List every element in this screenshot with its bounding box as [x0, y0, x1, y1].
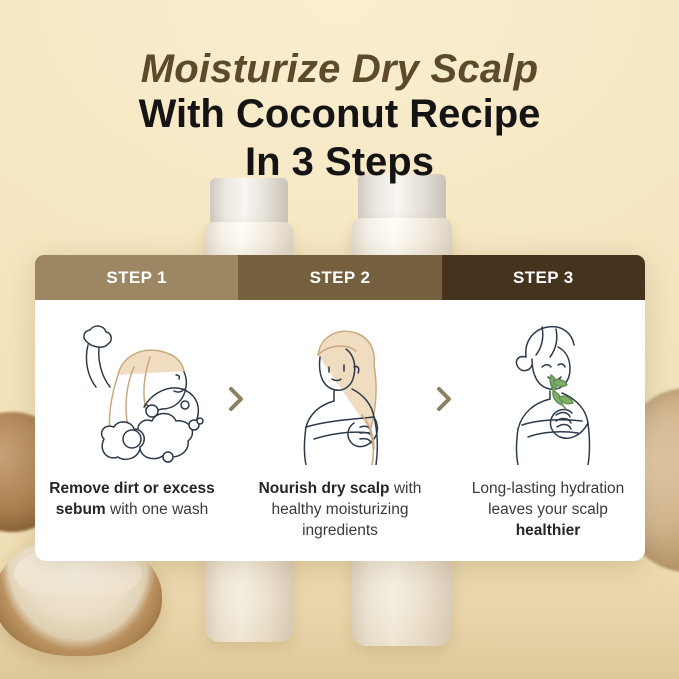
tab-step-3-label: STEP 3: [513, 268, 574, 288]
headline-line-3: In 3 Steps: [0, 138, 679, 187]
step-tabs: STEP 1 STEP 2 STEP 3: [35, 255, 645, 300]
headline-block: Moisturize Dry Scalp With Coconut Recipe…: [0, 48, 679, 187]
woman-washing-hair-with-lather-illustration: [48, 314, 216, 466]
separator-1: [223, 314, 249, 541]
step-1-column: Remove dirt or excess sebum with one was…: [41, 314, 223, 541]
step-3-caption-bold: healthier: [516, 522, 581, 539]
tab-step-2-label: STEP 2: [310, 268, 371, 288]
headline-line-2: With Coconut Recipe: [0, 91, 679, 138]
tab-step-1-label: STEP 1: [106, 268, 167, 288]
woman-with-hair-towel-and-leaf-illustration: [482, 314, 614, 466]
separator-2: [431, 314, 457, 541]
poster-canvas: Moisturize Dry Scalp With Coconut Recipe…: [0, 0, 679, 679]
step-2-caption-bold: Nourish dry scalp: [259, 480, 390, 497]
tab-step-3[interactable]: STEP 3: [442, 255, 645, 300]
step-3-caption: Long-lasting hydration leaves your scalp…: [463, 478, 633, 541]
step-2-column: Nourish dry scalp with healthy moisturiz…: [249, 314, 431, 541]
headline-line-1: Moisturize Dry Scalp: [0, 48, 679, 91]
steps-card: STEP 1 STEP 2 STEP 3: [35, 255, 645, 561]
chevron-right-icon: [227, 386, 245, 412]
step-3-column: Long-lasting hydration leaves your scalp…: [457, 314, 639, 541]
step-1-caption: Remove dirt or excess sebum with one was…: [47, 478, 217, 520]
steps-panel: Remove dirt or excess sebum with one was…: [35, 300, 645, 561]
step-3-caption-lead: Long-lasting hydration leaves your scalp: [472, 480, 625, 518]
woman-holding-long-hair-illustration: [274, 314, 406, 466]
tab-step-2[interactable]: STEP 2: [238, 255, 441, 300]
step-2-caption: Nourish dry scalp with healthy moisturiz…: [255, 478, 425, 541]
step-1-caption-rest: with one wash: [106, 501, 209, 518]
tab-step-1[interactable]: STEP 1: [35, 255, 238, 300]
chevron-right-icon: [435, 386, 453, 412]
